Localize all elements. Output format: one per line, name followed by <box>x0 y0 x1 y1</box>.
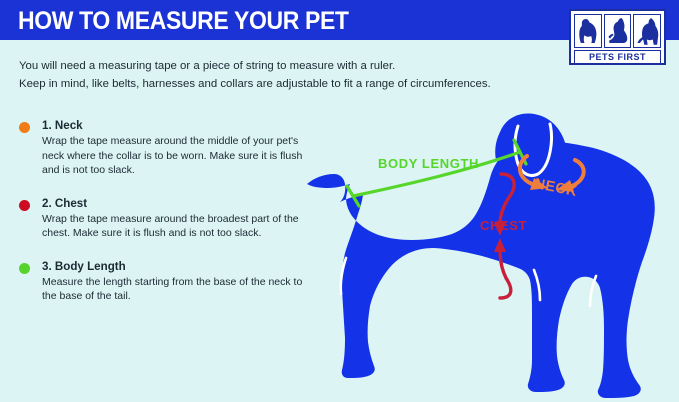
bullet-body-length <box>19 263 30 274</box>
step-body-chest: Wrap the tape measure around the broades… <box>42 212 303 241</box>
label-chest: CHEST <box>480 218 527 233</box>
brand-logo: PETS FIRST <box>569 9 666 65</box>
intro-text: You will need a measuring tape or a piec… <box>19 57 579 93</box>
step-item-chest: 2. Chest Wrap the tape measure around th… <box>18 196 303 241</box>
step-body-body-length: Measure the length starting from the bas… <box>42 275 303 304</box>
page-title: HOW TO MEASURE YOUR PET <box>18 7 349 35</box>
bullet-chest <box>19 200 30 211</box>
step-item-body-length: 3. Body Length Measure the length starti… <box>18 259 303 304</box>
dog-sitting-icon <box>574 14 602 48</box>
intro-line-1: You will need a measuring tape or a piec… <box>19 57 579 75</box>
step-body-neck: Wrap the tape measure around the middle … <box>42 134 303 178</box>
label-body-length: BODY LENGTH <box>378 156 479 171</box>
bullet-neck <box>19 122 30 133</box>
step-title-body-length: 3. Body Length <box>42 259 303 274</box>
dog-silhouette <box>307 113 655 398</box>
dog-measurement-diagram: BODY LENGTH NECK CHEST <box>300 108 679 402</box>
step-title-chest: 2. Chest <box>42 196 303 211</box>
dog-begging-icon <box>604 14 632 48</box>
step-item-neck: 1. Neck Wrap the tape measure around the… <box>18 118 303 178</box>
dog-standing-icon <box>633 14 661 48</box>
measurement-steps-list: 1. Neck Wrap the tape measure around the… <box>18 118 303 322</box>
intro-line-2: Keep in mind, like belts, harnesses and … <box>19 75 579 93</box>
logo-wordmark: PETS FIRST <box>574 50 661 64</box>
logo-icon-row <box>574 14 661 48</box>
infographic-page: HOW TO MEASURE YOUR PET PETS <box>0 0 679 402</box>
step-title-neck: 1. Neck <box>42 118 303 133</box>
